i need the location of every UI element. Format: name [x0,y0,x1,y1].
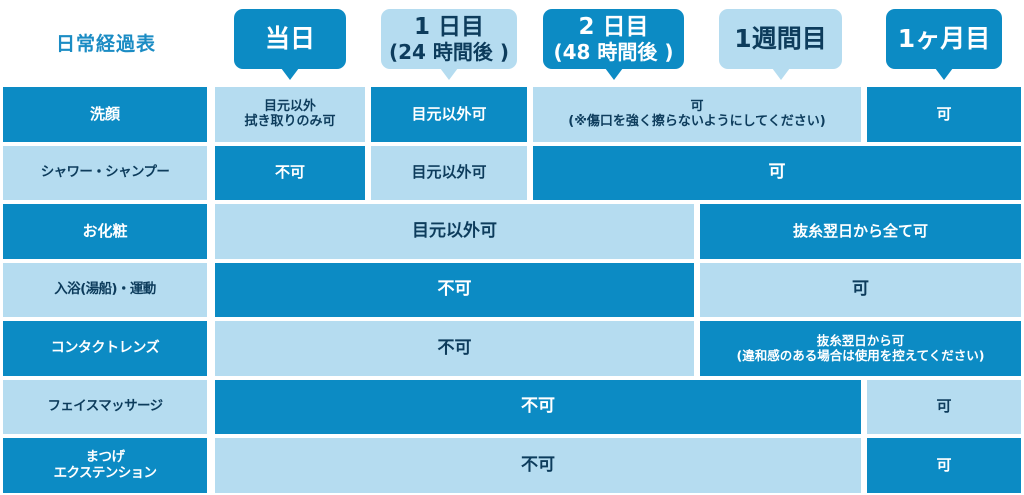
cell-text-line1: 可 [568,99,825,114]
cell-text-line2: 拭き取りのみ可 [244,114,335,129]
cell-text-line2: (違和感のある場合は使用を控えてください) [737,349,985,364]
row-label-text: 入浴(湯船)・運動 [54,282,155,298]
cell-text-line1: 可 [769,163,786,183]
table-row: シャワー・シャンプー不可目元以外可可 [0,144,1024,203]
row-label-text: シャワー・シャンプー [41,165,170,181]
row-label-5: コンタクトレンズ [3,321,207,376]
table-cell-r7-c1: 不可 [215,438,861,493]
cell-text-line1: 不可 [438,280,472,300]
row-label-text: コンタクトレンズ [51,340,160,356]
table-cell-r4-c1: 不可 [215,263,694,318]
table-cell-r5-c1: 不可 [215,321,694,376]
table-cell-r3-c1: 目元以外可 [215,204,694,259]
cell-text-line1: 不可 [275,164,305,181]
cell-text-line1: 可 [936,106,951,123]
cell-text-line1: 不可 [438,339,472,359]
callout-arrow-icon [772,68,790,80]
cell-text-line1: 可 [936,398,951,415]
row-label-text: お化粧 [82,223,127,240]
table-cell-r6-c2: 可 [867,380,1021,435]
callout-arrow-icon [605,68,623,80]
cell-text-line1: 不可 [521,397,555,417]
row-label-text: 洗顔 [90,106,120,123]
table-row: まつげエクステンション不可可 [0,436,1024,495]
header-pill-line1: 1週間目 [734,25,826,53]
table-row: 入浴(湯船)・運動不可可 [0,261,1024,320]
cell-text-line1: 抜糸翌日から全て可 [793,223,928,240]
table-cell-r2-c1: 不可 [215,146,365,201]
header-pill-3: 2 日目(48 時間後 ) [543,9,684,69]
row-label-line1: まつげ [54,450,157,466]
header-pill-4: 1週間目 [719,9,842,69]
table-cell-r5-c2: 抜糸翌日から可(違和感のある場合は使用を控えてください) [700,321,1021,376]
row-label-line2: エクステンション [54,466,157,482]
row-label-7: まつげエクステンション [3,438,207,493]
row-label-4: 入浴(湯船)・運動 [3,263,207,318]
row-label-1: 洗顔 [3,87,207,142]
cell-text-line1: 目元以外可 [411,164,486,181]
header-pill-line2: (24 時間後 ) [389,41,509,63]
cell-text-line1: 不可 [521,456,555,476]
header-pill-line1: 1 日目 [389,15,509,41]
table-cell-r2-c2: 目元以外可 [371,146,527,201]
callout-arrow-icon [935,68,953,80]
table-cell-r7-c2: 可 [867,438,1021,493]
table-cell-r1-c1: 目元以外拭き取りのみ可 [215,87,365,142]
cell-text-line1: 目元以外可 [412,222,497,242]
table-cell-r2-c3: 可 [533,146,1021,201]
table-row: お化粧目元以外可抜糸翌日から全て可 [0,202,1024,261]
row-label-6: フェイスマッサージ [3,380,207,435]
cell-text-line1: 目元以外 [244,99,335,114]
table-cell-r1-c3: 可(※傷口を強く擦らないようにしてください) [533,87,861,142]
table-header: 日常経過表 当日1 日目(24 時間後 )2 日目(48 時間後 )1週間目1ヶ… [0,0,1024,85]
callout-arrow-icon [440,68,458,80]
table-row: コンタクトレンズ不可抜糸翌日から可(違和感のある場合は使用を控えてください) [0,319,1024,378]
table-body: 洗顔目元以外拭き取りのみ可目元以外可可(※傷口を強く擦らないようにしてください)… [0,85,1024,495]
cell-text-line1: 可 [936,457,951,474]
cell-text-line1: 抜糸翌日から可 [737,334,985,349]
table-row: フェイスマッサージ不可可 [0,378,1024,437]
cell-text-line1: 可 [852,280,869,300]
header-pill-line1: 当日 [265,25,315,53]
cell-text-line1: 目元以外可 [411,106,486,123]
header-pill-line1: 1ヶ月目 [898,25,990,53]
page-title: 日常経過表 [0,0,212,85]
table-cell-r1-c2: 目元以外可 [371,87,527,142]
header-pill-2: 1 日目(24 時間後 ) [381,9,517,69]
header-pill-line2: (48 時間後 ) [553,41,673,63]
header-pill-line1: 2 日目 [553,15,673,41]
header-pill-5: 1ヶ月目 [886,9,1002,69]
daily-progress-table: 日常経過表 当日1 日目(24 時間後 )2 日目(48 時間後 )1週間目1ヶ… [0,0,1024,495]
cell-text-line2: (※傷口を強く擦らないようにしてください) [568,114,825,129]
table-cell-r1-c4: 可 [867,87,1021,142]
row-label-text: フェイスマッサージ [47,399,162,415]
table-cell-r3-c2: 抜糸翌日から全て可 [700,204,1021,259]
row-label-3: お化粧 [3,204,207,259]
callout-arrow-icon [281,68,299,80]
header-pill-1: 当日 [234,9,346,69]
table-row: 洗顔目元以外拭き取りのみ可目元以外可可(※傷口を強く擦らないようにしてください)… [0,85,1024,144]
table-cell-r4-c2: 可 [700,263,1021,318]
table-cell-r6-c1: 不可 [215,380,861,435]
row-label-2: シャワー・シャンプー [3,146,207,201]
